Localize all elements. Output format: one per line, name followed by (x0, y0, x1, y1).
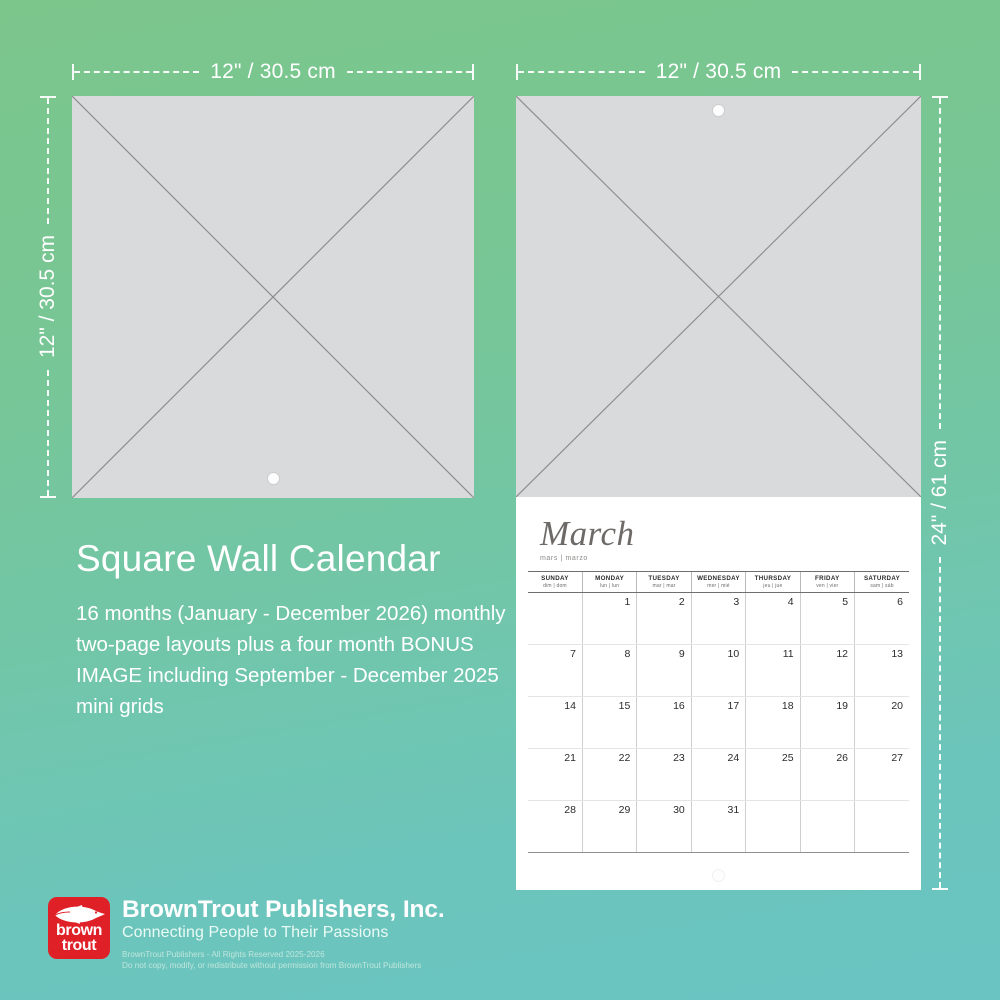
legal-line-1: BrownTrout Publishers - All Rights Reser… (122, 949, 445, 960)
calendar-week-row: 1 2 3 4 5 6 (528, 593, 909, 645)
calendar-day-cell[interactable]: 24 (691, 749, 745, 801)
placeholder-cross-icon (72, 96, 474, 498)
calendar-day-cell[interactable]: 19 (800, 697, 854, 749)
company-tagline: Connecting People to Their Passions (122, 924, 445, 942)
calendar-day-cell[interactable]: 8 (582, 645, 636, 697)
calendar-day-cell[interactable]: 29 (582, 801, 636, 853)
dimension-cap-end (932, 888, 948, 890)
calendar-day-cell[interactable]: 5 (800, 593, 854, 645)
weekday-localized: jeu | jue (746, 583, 799, 589)
hole-punch (268, 473, 279, 484)
dimension-cap-end (40, 496, 56, 498)
weekday-name: MONDAY (595, 575, 624, 582)
calendar-day-cell[interactable]: 4 (746, 593, 800, 645)
logo-line-2: trout (48, 938, 110, 953)
calendar-day-cell[interactable] (855, 801, 909, 853)
calendar-day-cell[interactable]: 20 (855, 697, 909, 749)
calendar-grid: SUNDAY dim | dom MONDAY lun | lun TUESDA… (528, 571, 909, 853)
calendar-day-cell[interactable]: 2 (637, 593, 691, 645)
dimension-dashed-line (792, 71, 919, 73)
calendar-day-cell[interactable]: 17 (691, 697, 745, 749)
weekday-localized: ven | vier (801, 583, 854, 589)
weekday-header-wednesday: WEDNESDAY mer | mié (691, 572, 745, 593)
calendar-day-cell[interactable]: 18 (746, 697, 800, 749)
weekday-localized: lun | lun (583, 583, 636, 589)
weekday-header-thursday: THURSDAY jeu | jue (746, 572, 800, 593)
footer: brown trout BrownTrout Publishers, Inc. … (48, 897, 445, 971)
calendar-week-row: 7 8 9 10 11 12 13 (528, 645, 909, 697)
calendar-day-cell[interactable]: 30 (637, 801, 691, 853)
dimension-top-right-label: 12" / 30.5 cm (645, 60, 793, 84)
dimension-right: 24" / 61 cm (930, 96, 950, 890)
dimension-right-label: 24" / 61 cm (928, 429, 952, 557)
browntrout-logo-text: brown trout (48, 923, 110, 954)
weekday-localized: dim | dom (528, 583, 582, 589)
weekday-header-friday: FRIDAY ven | vier (800, 572, 854, 593)
dimension-dashed-line (518, 71, 645, 73)
weekday-localized: mar | mar (637, 583, 690, 589)
placeholder-cross-icon (516, 96, 921, 497)
weekday-localized: sam | sáb (855, 583, 909, 589)
calendar-weekday-header-row: SUNDAY dim | dom MONDAY lun | lun TUESDA… (528, 572, 909, 593)
calendar-day-cell[interactable]: 14 (528, 697, 582, 749)
dimension-dashed-line (74, 71, 199, 73)
calendar-week-row: 28 29 30 31 (528, 801, 909, 853)
calendar-day-cell[interactable] (528, 593, 582, 645)
weekday-name: SUNDAY (541, 575, 569, 582)
dimension-top-left: 12" / 30.5 cm (72, 62, 474, 82)
legal-line-2: Do not copy, modify, or redistribute wit… (122, 960, 445, 971)
dimension-cap-end (472, 64, 474, 80)
calendar-month-localized: mars | marzo (540, 555, 921, 562)
calendar-day-cell[interactable]: 21 (528, 749, 582, 801)
dimension-left: 12" / 30.5 cm (38, 96, 58, 498)
weekday-name: SATURDAY (864, 575, 900, 582)
weekday-name: FRIDAY (815, 575, 840, 582)
dimension-dashed-line (939, 557, 941, 888)
product-description: 16 months (January - December 2026) mont… (76, 598, 518, 723)
dimension-top-right: 12" / 30.5 cm (516, 62, 921, 82)
hole-punch (713, 870, 724, 881)
dimension-dashed-line (47, 98, 49, 224)
calendar-image-placeholder (516, 96, 921, 497)
calendar-day-cell[interactable]: 26 (800, 749, 854, 801)
dimension-cap-end (919, 64, 921, 80)
weekday-name: TUESDAY (648, 575, 679, 582)
calendar-day-cell[interactable]: 11 (746, 645, 800, 697)
weekday-name: WEDNESDAY (697, 575, 740, 582)
calendar-day-cell[interactable]: 1 (582, 593, 636, 645)
dimension-dashed-line (47, 370, 49, 496)
calendar-day-cell[interactable]: 3 (691, 593, 745, 645)
calendar-day-cell[interactable]: 25 (746, 749, 800, 801)
dimension-dashed-line (347, 71, 472, 73)
calendar-day-cell[interactable]: 15 (582, 697, 636, 749)
weekday-header-sunday: SUNDAY dim | dom (528, 572, 582, 593)
calendar-day-cell[interactable]: 22 (582, 749, 636, 801)
calendar-day-cell[interactable]: 23 (637, 749, 691, 801)
calendar-day-cell[interactable]: 28 (528, 801, 582, 853)
calendar-day-cell[interactable] (746, 801, 800, 853)
dimension-left-label: 12" / 30.5 cm (36, 224, 60, 369)
logo-line-1: brown (48, 923, 110, 938)
calendar-day-cell[interactable]: 31 (691, 801, 745, 853)
calendar-day-cell[interactable]: 9 (637, 645, 691, 697)
calendar-day-cell[interactable]: 12 (800, 645, 854, 697)
dimension-top-left-label: 12" / 30.5 cm (199, 60, 347, 84)
weekday-header-monday: MONDAY lun | lun (582, 572, 636, 593)
weekday-localized: mer | mié (692, 583, 745, 589)
calendar-day-cell[interactable]: 27 (855, 749, 909, 801)
legal-notice: BrownTrout Publishers - All Rights Reser… (122, 949, 445, 971)
calendar-month-title: March (540, 514, 921, 554)
calendar-day-cell[interactable] (800, 801, 854, 853)
calendar-day-cell[interactable]: 13 (855, 645, 909, 697)
company-name: BrownTrout Publishers, Inc. (122, 897, 445, 923)
page-title: Square Wall Calendar (76, 538, 516, 580)
dimension-dashed-line (939, 98, 941, 429)
weekday-header-saturday: SATURDAY sam | sáb (855, 572, 909, 593)
weekday-header-tuesday: TUESDAY mar | mar (637, 572, 691, 593)
calendar-day-cell[interactable]: 7 (528, 645, 582, 697)
weekday-name: THURSDAY (755, 575, 792, 582)
browntrout-logo: brown trout (48, 897, 110, 959)
calendar-week-row: 21 22 23 24 25 26 27 (528, 749, 909, 801)
calendar-day-cell[interactable]: 6 (855, 593, 909, 645)
cover-image-placeholder (72, 96, 474, 498)
calendar-week-row: 14 15 16 17 18 19 20 (528, 697, 909, 749)
calendar-day-cell[interactable]: 16 (637, 697, 691, 749)
calendar-page: March mars | marzo SUNDAY dim | dom MOND… (516, 497, 921, 890)
calendar-day-cell[interactable]: 10 (691, 645, 745, 697)
hole-punch (713, 105, 724, 116)
